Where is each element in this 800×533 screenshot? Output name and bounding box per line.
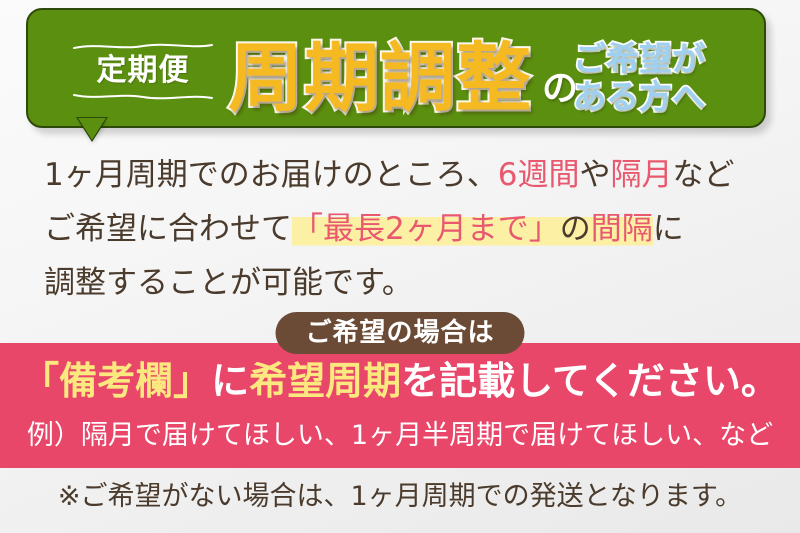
header-title-group: 周期調整 の bbox=[228, 24, 578, 132]
wave-divider-top-icon bbox=[73, 42, 213, 51]
instruction-headline-yellow-1: 「備考欄」 bbox=[21, 359, 211, 403]
body-line-2: ご希望に合わせて「最長2ヶ月まで」の間隔に bbox=[44, 202, 760, 256]
subscription-badge-label: 定期便 bbox=[97, 56, 190, 86]
body-line-2-part-1: ご希望に合わせて bbox=[44, 211, 292, 247]
body-line-1-part-3: など bbox=[672, 157, 734, 193]
body-copy: 1ヶ月周期でのお届けのところ、6週間や隔月など ご希望に合わせて「最長2ヶ月まで… bbox=[44, 148, 760, 310]
instruction-headline-white-2: を記載してください。 bbox=[401, 359, 779, 403]
body-line-3: 調整することが可能です。 bbox=[44, 256, 760, 310]
header-side-note-line-1: ご希望が bbox=[573, 41, 705, 77]
body-line-2-highlight-particle: の bbox=[560, 211, 591, 247]
instruction-headline: 「備考欄」に希望周期を記載してください。 bbox=[0, 362, 800, 400]
instruction-headline-white-1: に bbox=[211, 359, 249, 403]
instruction-pill-badge-label: ご希望の場合は bbox=[305, 320, 494, 346]
subscription-badge: 定期便 bbox=[68, 36, 218, 106]
instruction-headline-yellow-2: 希望周期 bbox=[249, 359, 401, 403]
body-line-1-accent-2: 隔月 bbox=[610, 157, 672, 193]
footer-note: ※ご希望がない場合は、1ヶ月周期での発送となります。 bbox=[0, 483, 800, 510]
instruction-example: 例）隔月で届けてほしい、1ヶ月半周期で届けてほしい、など bbox=[0, 422, 800, 449]
wave-divider-bottom-icon bbox=[73, 91, 213, 100]
body-line-2-part-2: に bbox=[653, 211, 684, 247]
header-bubble: 定期便 周期調整 の ご希望が ある方へ bbox=[26, 8, 766, 128]
body-line-1-accent-1: 6週間 bbox=[498, 157, 580, 193]
body-line-1-part-2: や bbox=[579, 157, 610, 193]
body-line-2-highlight-quote: 「最長2ヶ月まで」 bbox=[292, 211, 560, 247]
body-line-1: 1ヶ月周期でのお届けのところ、6週間や隔月など bbox=[44, 148, 760, 202]
page-title: 周期調整 bbox=[228, 41, 532, 116]
header-side-note-line-2: ある方へ bbox=[573, 79, 705, 115]
promo-banner: 定期便 周期調整 の ご希望が ある方へ 1ヶ月周期でのお届けのところ、6週間や… bbox=[0, 0, 800, 533]
instruction-pill-badge: ご希望の場合は bbox=[275, 312, 524, 354]
speech-bubble-tail bbox=[78, 118, 106, 140]
header-side-note: ご希望が ある方へ bbox=[544, 30, 734, 126]
body-line-1-part-1: 1ヶ月周期でのお届けのところ、 bbox=[44, 157, 498, 193]
body-line-2-highlight-word: 間隔 bbox=[591, 211, 653, 247]
